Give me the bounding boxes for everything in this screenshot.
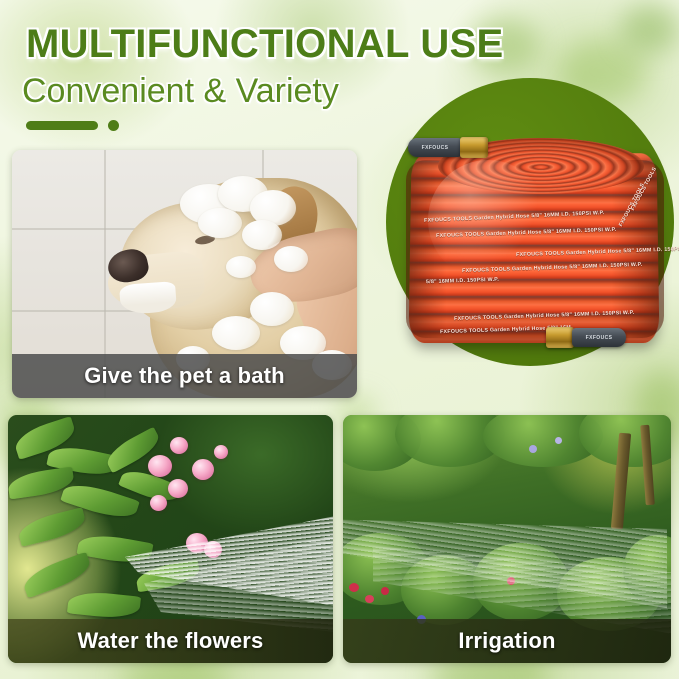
hose-brass-coupling-bottom	[546, 327, 574, 348]
soap-suds	[242, 220, 282, 250]
product-hose-coil: FXFOUCS TOOLS Garden Hybrid Hose 5/8" 16…	[398, 130, 670, 362]
soap-suds	[226, 256, 256, 278]
hose-fitting-top: FXFOUCS	[408, 138, 488, 157]
rose-bloom	[150, 495, 167, 511]
photo-panel-irrigation: Irrigation	[343, 415, 671, 663]
hose-brass-coupling-top	[460, 137, 488, 158]
photo-panel-water-flowers: Water the flowers	[8, 415, 333, 663]
page-title: MULTIFUNCTIONAL USE	[26, 22, 504, 67]
flower	[349, 583, 359, 592]
rose-bloom	[168, 479, 188, 498]
photo-panel-pet-bath: Give the pet a bath	[12, 150, 357, 398]
panel-caption-water-flowers: Water the flowers	[8, 619, 333, 663]
panel-caption-pet-bath: Give the pet a bath	[12, 354, 357, 398]
rose-bloom	[192, 459, 214, 480]
panel-caption-irrigation: Irrigation	[343, 619, 671, 663]
page-subtitle: Convenient & Variety	[22, 72, 339, 111]
flower	[365, 595, 374, 603]
flower	[529, 445, 537, 453]
hose-fitting-bottom: FXFOUCS	[546, 328, 626, 347]
divider-dot	[108, 120, 119, 131]
soap-suds	[198, 208, 242, 238]
rose-bloom	[170, 437, 188, 454]
poster-canvas: MULTIFUNCTIONAL USE Convenient & Variety…	[0, 0, 679, 679]
soap-suds	[212, 316, 260, 350]
divider-bar	[26, 121, 98, 130]
hose-grip-top: FXFOUCS	[408, 138, 462, 157]
rose-bloom	[214, 445, 228, 459]
hose-grip-brand: FXFOUCS	[422, 145, 449, 151]
soap-suds	[274, 246, 308, 272]
rose-bloom	[148, 455, 172, 477]
flower	[555, 437, 562, 444]
flower	[381, 587, 389, 595]
hose-grip-brand: FXFOUCS	[586, 335, 613, 341]
soap-suds	[250, 292, 294, 326]
title-divider	[26, 120, 119, 131]
hose-grip-bottom: FXFOUCS	[572, 328, 626, 347]
background-leaf-blob	[620, 4, 679, 54]
